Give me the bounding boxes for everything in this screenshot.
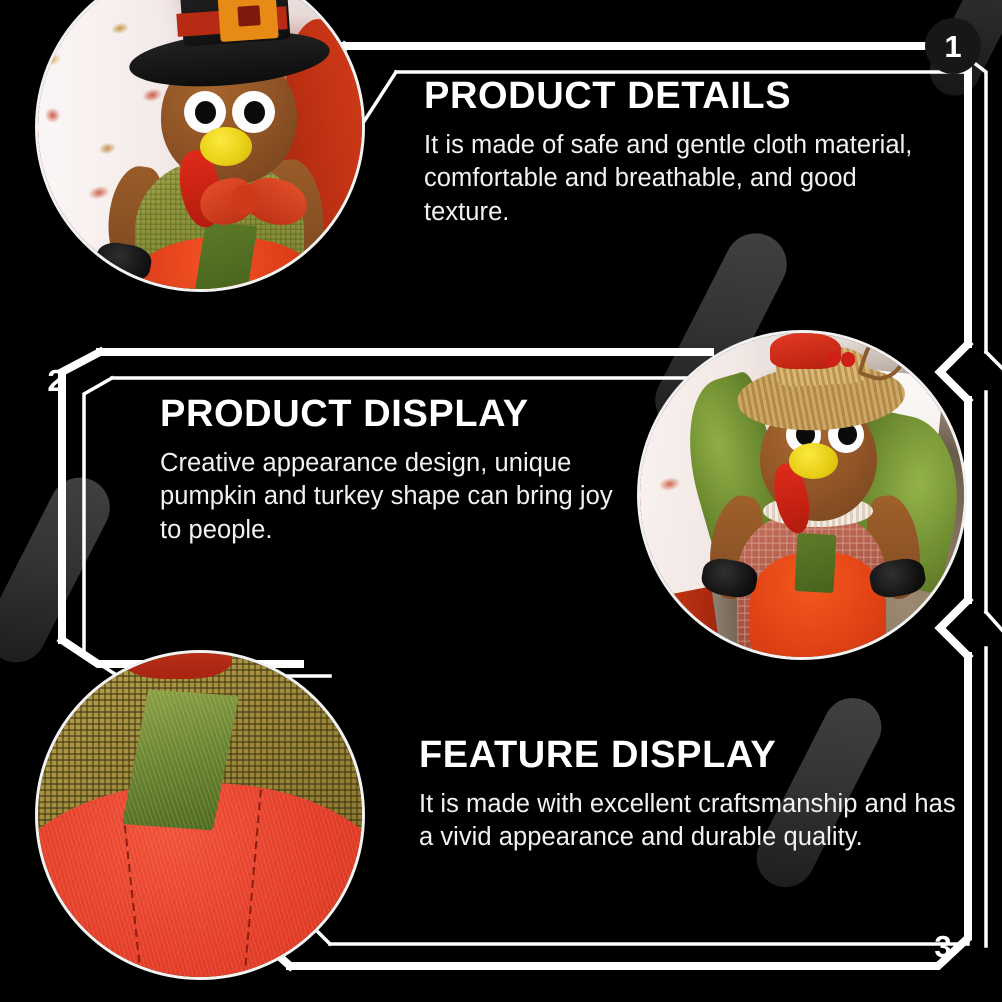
product-photo-pilgrim-turkey <box>35 0 365 292</box>
section-3-heading: FEATURE DISPLAY <box>419 735 959 775</box>
photo2-berry-a <box>825 352 840 367</box>
photo1-hat-buckle <box>218 0 280 41</box>
photo2-yellow-beak <box>789 443 838 479</box>
product-photo-pumpkin-detail <box>35 650 365 980</box>
photo1-green-patch <box>194 223 257 289</box>
step-number-badge-2: 2 <box>28 352 84 408</box>
photo1-yellow-beak <box>200 127 252 166</box>
product-photo-straw-hat-turkey <box>637 330 967 660</box>
section-1-heading: PRODUCT DETAILS <box>424 76 944 116</box>
section-2-text-block: PRODUCT DISPLAY Creative appearance desi… <box>160 394 630 547</box>
section-3-body: It is made with excellent craftsmanship … <box>419 788 959 854</box>
infographic-canvas: PRODUCT DETAILS It is made of safe and g… <box>0 0 1002 1002</box>
photo1-bowtie-knot <box>232 185 258 214</box>
section-3-text-block: FEATURE DISPLAY It is made with excellen… <box>419 735 959 855</box>
step-number-badge-3: 3 <box>915 918 971 974</box>
section-2-body: Creative appearance design, unique pumpk… <box>160 447 630 546</box>
photo1-pupil-right <box>244 101 265 124</box>
diagonal-streak-mid-left <box>0 467 120 672</box>
step-number-badge-1: 1 <box>925 18 981 74</box>
section-1-body: It is made of safe and gentle cloth mate… <box>424 129 944 228</box>
photo1-pupil-left <box>195 101 216 124</box>
section-2-heading: PRODUCT DISPLAY <box>160 394 630 434</box>
section-1-text-block: PRODUCT DETAILS It is made of safe and g… <box>424 76 944 229</box>
photo2-green-patch <box>794 533 836 593</box>
